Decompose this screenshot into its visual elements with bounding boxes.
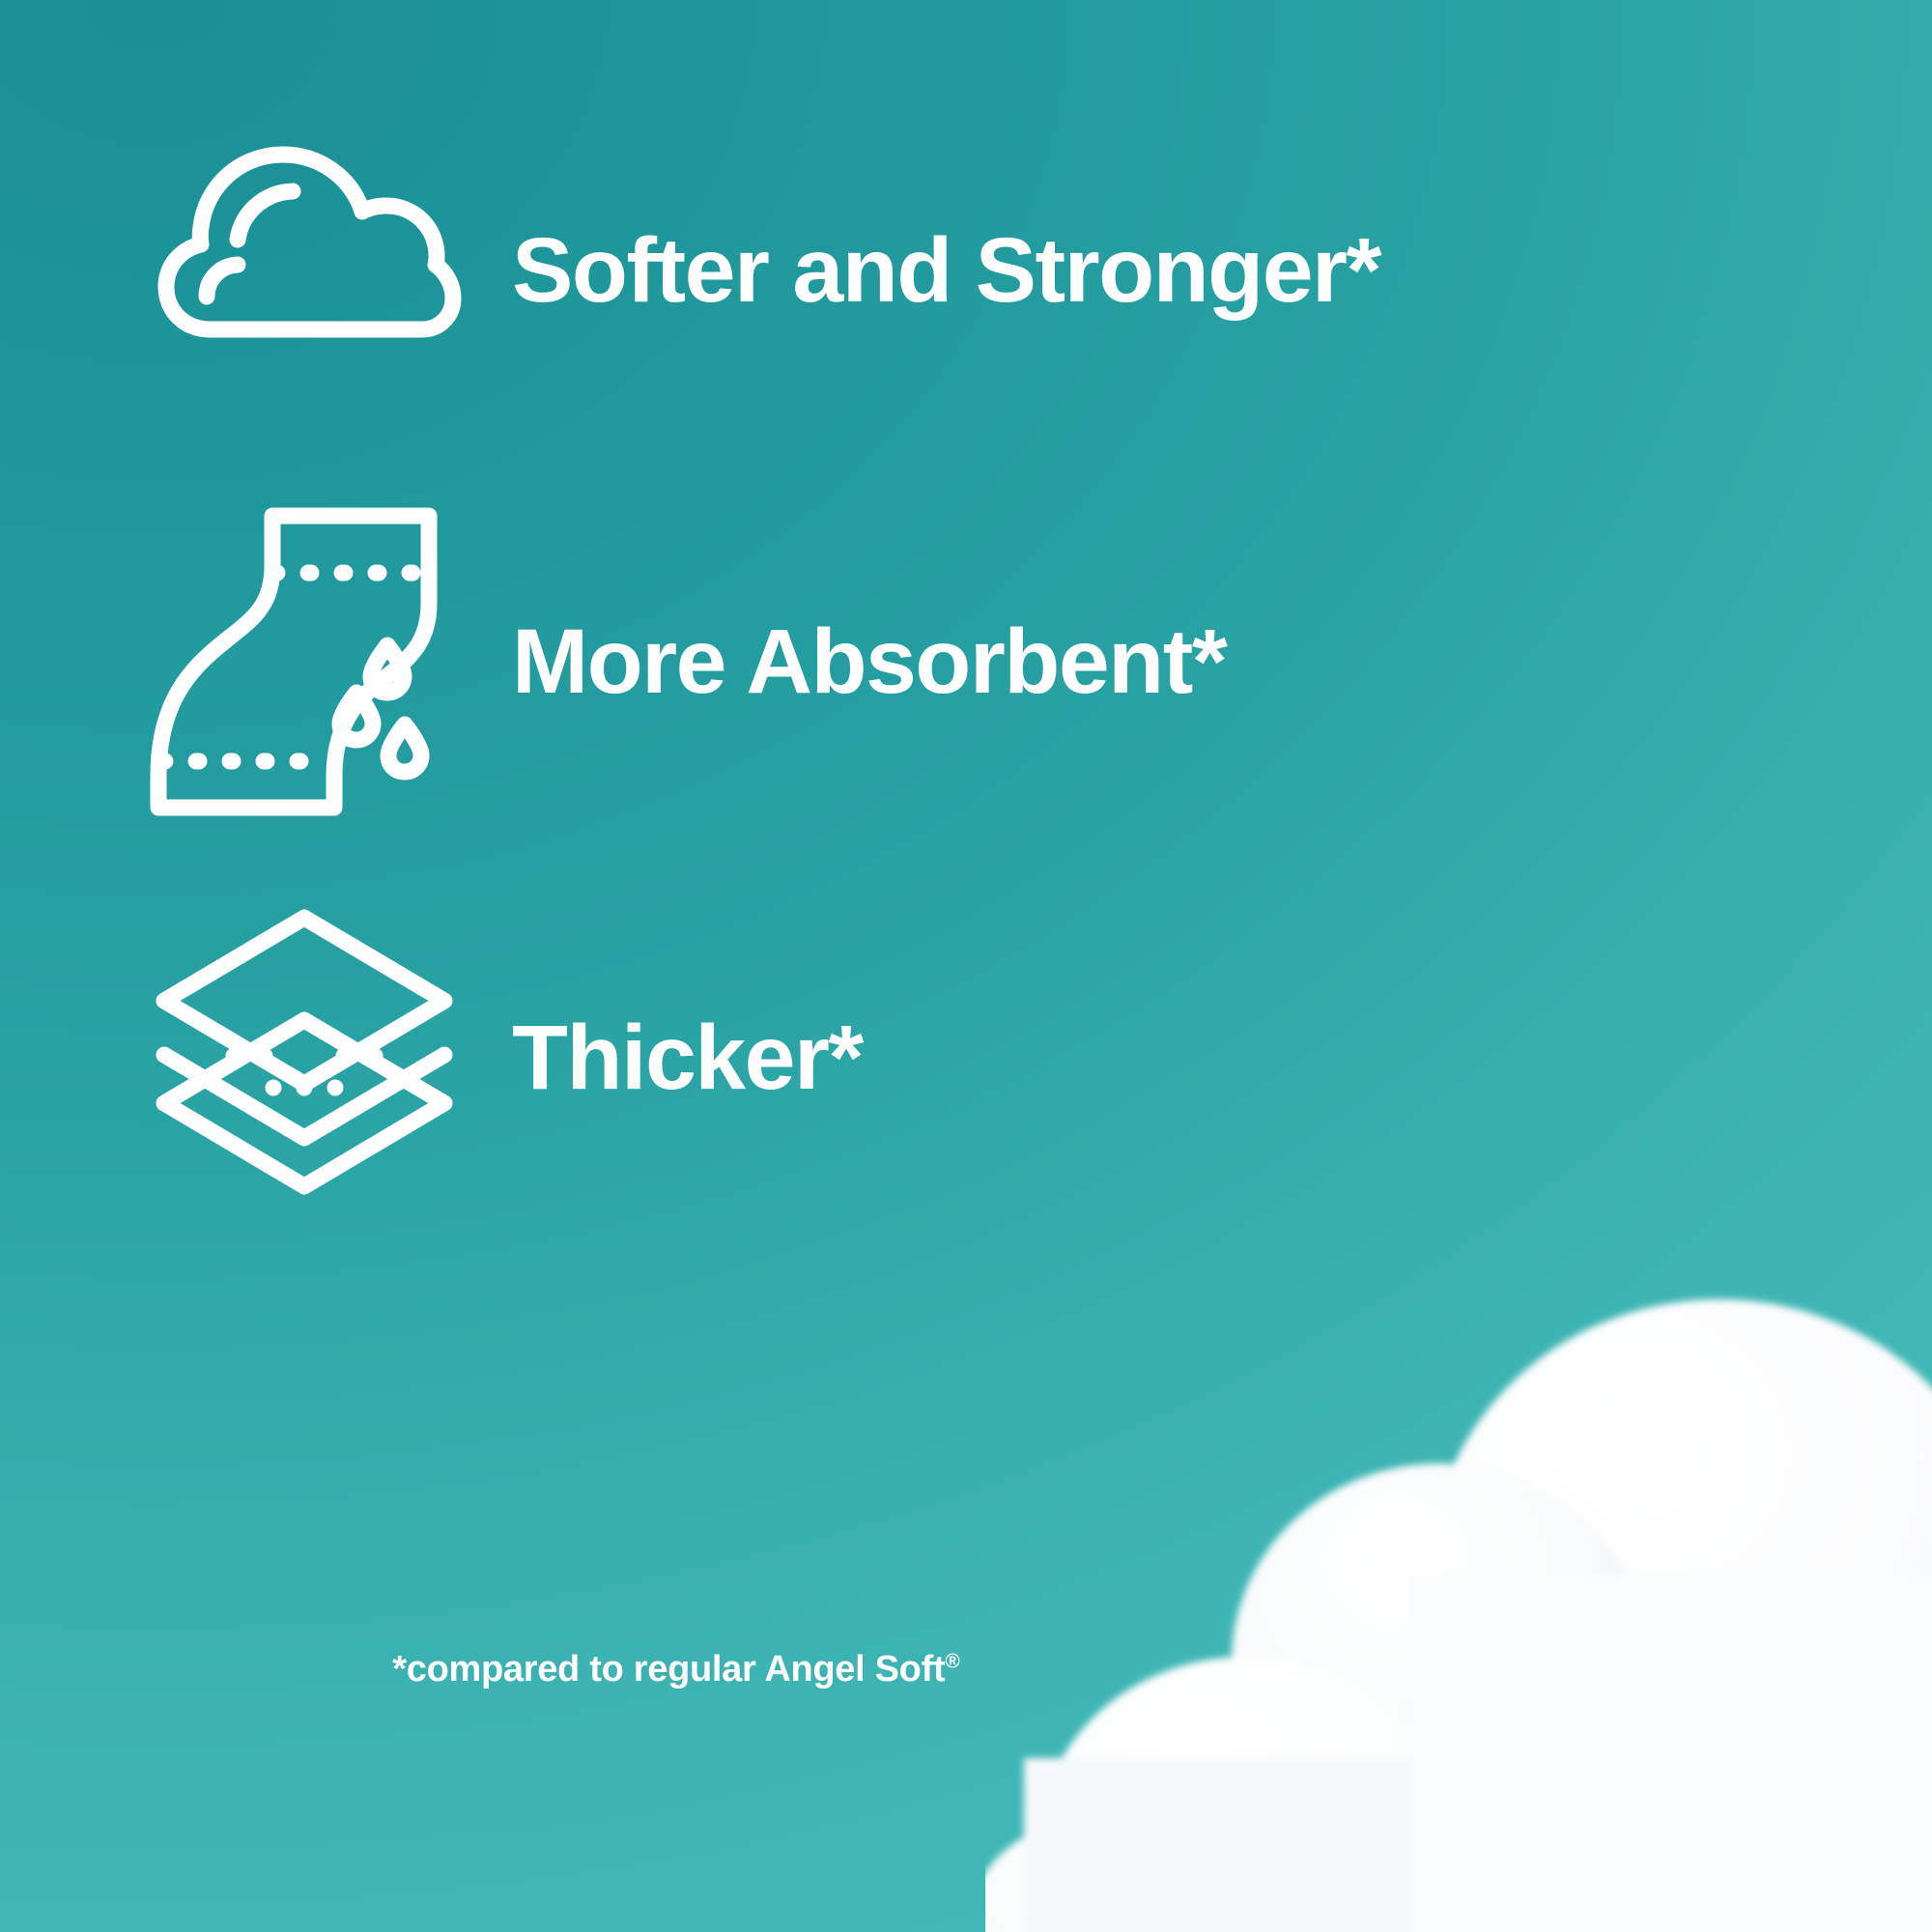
registered-trademark-symbol: ®	[945, 1650, 959, 1672]
feature-label-thicker: Thicker*	[512, 1012, 863, 1104]
footnote: *compared to regular Angel Soft®	[0, 1649, 1352, 1690]
cloud-outline-icon	[145, 111, 464, 430]
feature-label-softer: Softer and Stronger*	[512, 225, 1380, 317]
stacked-layers-icon	[145, 898, 464, 1217]
soft-cloud-decoration	[985, 1256, 1932, 1932]
feature-row-softer: Softer and Stronger*	[145, 111, 1787, 430]
footnote-text: *compared to regular Angel Soft	[392, 1649, 945, 1690]
sock-water-droplets-icon	[145, 502, 464, 821]
feature-row-thicker: Thicker*	[145, 898, 1787, 1217]
advertisement-canvas: Softer and Stronger* More Absorben	[0, 0, 1932, 1932]
feature-label-absorbent: More Absorbent*	[512, 616, 1226, 708]
feature-row-absorbent: More Absorbent*	[145, 502, 1787, 821]
